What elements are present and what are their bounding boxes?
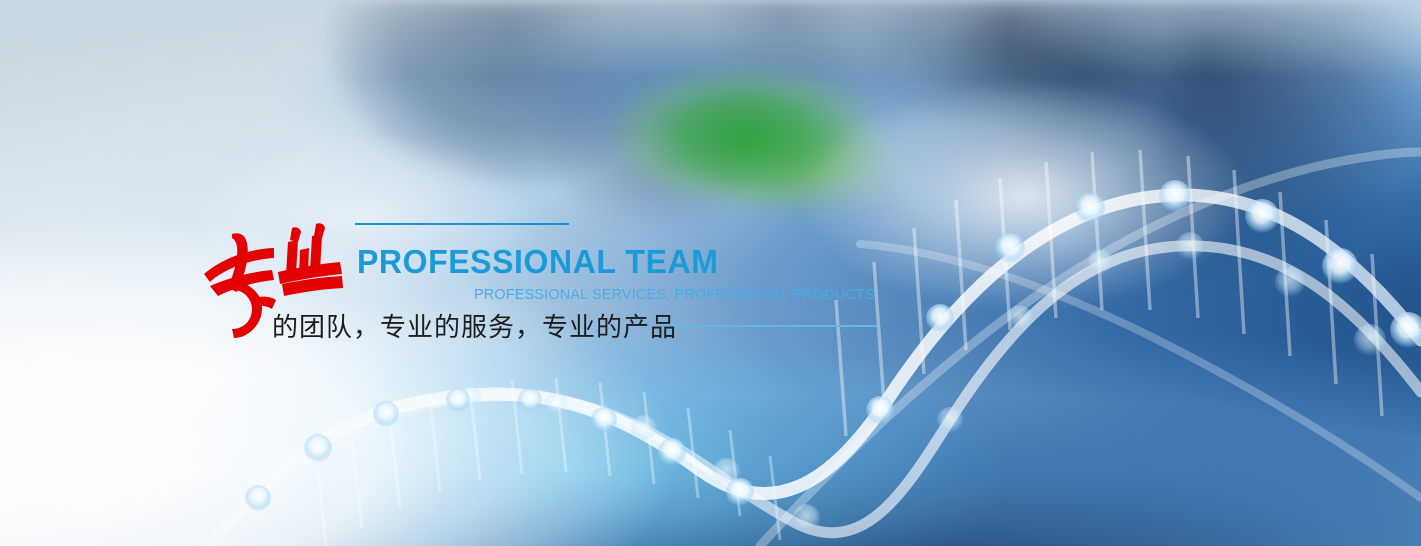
top-divider-line: [355, 223, 569, 225]
hero-banner: PROFESSIONAL TEAM PROFESSIONAL SERVICES,…: [0, 0, 1421, 546]
bottom-divider-line: [660, 325, 877, 327]
banner-content: PROFESSIONAL TEAM PROFESSIONAL SERVICES,…: [0, 0, 1421, 546]
chinese-tagline: 的团队，专业的服务，专业的产品: [272, 307, 677, 344]
page-subtitle: PROFESSIONAL SERVICES, PROFESSIONAL PROD…: [474, 286, 875, 303]
page-title: PROFESSIONAL TEAM: [357, 243, 718, 281]
